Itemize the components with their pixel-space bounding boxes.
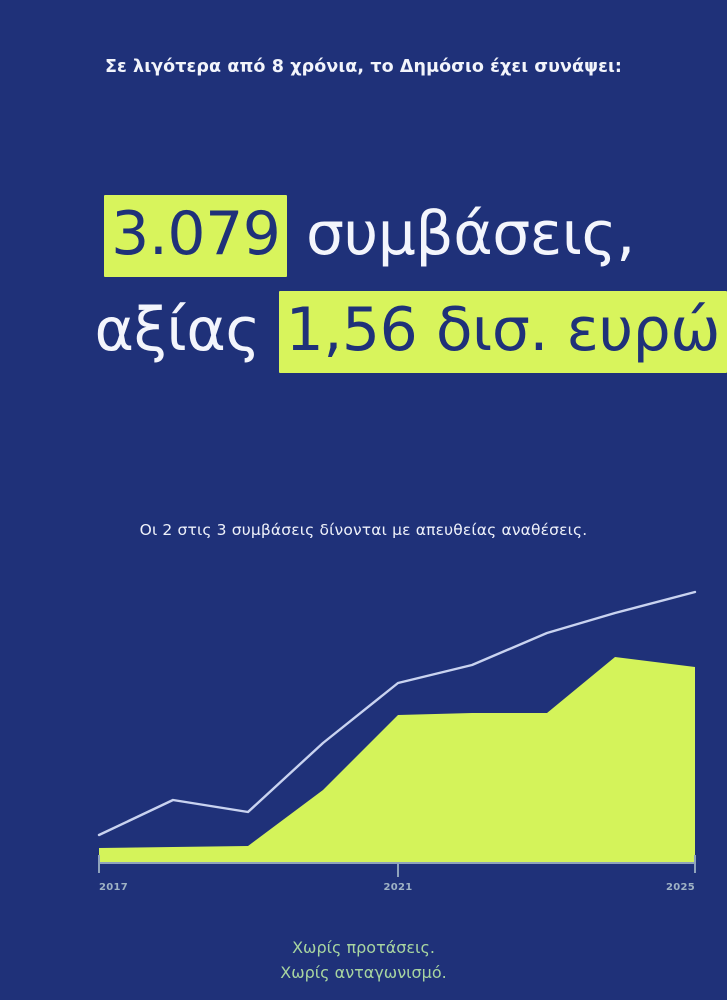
sub-caption: Οι 2 στις 3 συμβάσεις δίνονται με απευθε… — [0, 521, 727, 539]
headline-value-prefix: αξίας — [95, 295, 261, 365]
chart-area-series — [99, 657, 695, 863]
chart-container: 2017 2021 2025 — [0, 565, 727, 905]
x-tick-label-2017: 2017 — [99, 882, 128, 893]
headline-line-1: 3.079 συμβάσεις, — [0, 186, 727, 282]
footer-line-2: Χωρίς ανταγωνισμό. — [0, 960, 727, 985]
area-line-chart: 2017 2021 2025 — [0, 565, 727, 905]
headline-value-amount: 1,56 δισ. ευρώ — [279, 291, 727, 373]
kicker-text: Σε λιγότερα από 8 χρόνια, το Δημόσιο έχε… — [0, 57, 727, 77]
x-tick-label-2025: 2025 — [666, 882, 695, 893]
footer-block: Χωρίς προτάσεις. Χωρίς ανταγωνισμό. — [0, 935, 727, 985]
x-tick-label-2021: 2021 — [383, 882, 412, 893]
headline-contracts-count: 3.079 — [104, 195, 287, 277]
headline-line-2: αξίας 1,56 δισ. ευρώ — [0, 282, 727, 378]
infographic-page: Σε λιγότερα από 8 χρόνια, το Δημόσιο έχε… — [0, 0, 727, 1000]
headline-block: 3.079 συμβάσεις, αξίας 1,56 δισ. ευρώ — [0, 186, 727, 378]
footer-line-1: Χωρίς προτάσεις. — [0, 935, 727, 960]
headline-contracts-word: συμβάσεις, — [306, 199, 635, 269]
